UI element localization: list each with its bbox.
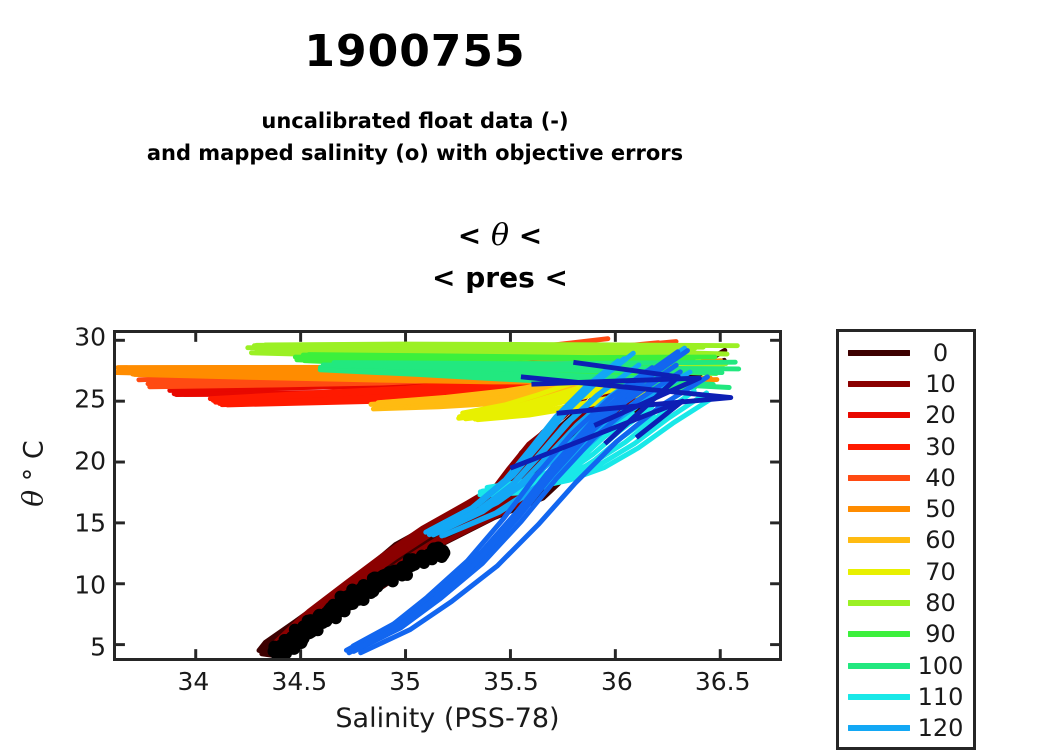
pressure-legend[interactable]: 0102030405060708090100110120130 — [836, 329, 976, 750]
legend-item-label: 70 — [910, 560, 973, 584]
x-tick-label: 35.5 — [466, 669, 556, 694]
y-tick-label: 5 — [42, 635, 106, 660]
legend-item[interactable]: 90 — [839, 619, 973, 650]
title-block: 1900755 uncalibrated float data (-) and … — [0, 0, 830, 170]
series-layer — [116, 339, 738, 655]
legend-color-swatch — [848, 694, 910, 700]
legend-color-swatch — [848, 725, 910, 731]
profile-line — [257, 345, 704, 347]
legend-item[interactable]: 70 — [839, 556, 973, 587]
legend-item-label: 120 — [910, 716, 973, 740]
subtitle-line-1: uncalibrated float data (-) — [0, 106, 830, 138]
legend-color-swatch — [848, 569, 910, 575]
legend-color-swatch — [848, 381, 910, 387]
legend-color-swatch — [848, 663, 910, 669]
legend-item[interactable]: 60 — [839, 525, 973, 556]
theta-symbol-axis: θ — [17, 490, 50, 507]
legend-item-label: 60 — [910, 528, 973, 552]
legend-color-swatch — [848, 506, 910, 512]
legend-item[interactable]: 40 — [839, 462, 973, 493]
legend-color-swatch — [848, 631, 910, 637]
mapped-salinity-marker — [430, 550, 442, 562]
range-annotation-block: < θ < < pres < — [0, 215, 1000, 297]
theta-range-line: < θ < — [0, 215, 1000, 258]
legend-color-swatch — [848, 444, 910, 450]
y-tick-label: 30 — [42, 325, 106, 350]
x-tick-label: 34 — [148, 669, 238, 694]
x-tick-label: 36 — [572, 669, 662, 694]
legend-item-label: 0 — [910, 341, 973, 365]
legend-item[interactable]: 100 — [839, 650, 973, 681]
mapped-salinity-marker — [390, 567, 402, 579]
plot-canvas — [116, 333, 779, 658]
degree-c-text: ° C — [19, 440, 50, 481]
legend-item[interactable]: 30 — [839, 431, 973, 462]
theta-range-prefix: < — [458, 219, 481, 252]
subtitle-line-2: and mapped salinity (o) with objective e… — [0, 138, 830, 170]
legend-item-label: 40 — [910, 466, 973, 490]
legend-item[interactable]: 20 — [839, 400, 973, 431]
legend-color-swatch — [848, 537, 910, 543]
legend-color-swatch — [848, 412, 910, 418]
pres-range-line: < pres < — [0, 258, 1000, 298]
legend-item[interactable]: 120 — [839, 713, 973, 744]
page-title: 1900755 — [0, 30, 830, 74]
legend-item[interactable]: 110 — [839, 681, 973, 712]
legend-item[interactable]: 130 — [839, 744, 973, 750]
y-tick-label: 15 — [42, 511, 106, 536]
x-tick-label: 34.5 — [254, 669, 344, 694]
x-tick-label: 36.5 — [678, 669, 768, 694]
y-tick-label: 10 — [42, 573, 106, 598]
legend-item[interactable]: 80 — [839, 587, 973, 618]
legend-color-swatch — [848, 475, 910, 481]
y-tick-label: 20 — [42, 449, 106, 474]
legend-item[interactable]: 0 — [839, 337, 973, 368]
legend-item-label: 50 — [910, 497, 973, 521]
y-axis-label: θ ° C — [17, 394, 50, 554]
x-tick-label: 35 — [360, 669, 450, 694]
x-axis-label: Salinity (PSS-78) — [113, 703, 782, 734]
legend-item-label: 20 — [910, 403, 973, 427]
y-tick-label: 25 — [42, 387, 106, 412]
theta-salinity-plot — [113, 330, 782, 661]
x-axis-ticks: 3434.53535.53636.5 — [113, 661, 782, 701]
legend-item[interactable]: 50 — [839, 493, 973, 524]
legend-item-label: 10 — [910, 372, 973, 396]
legend-item-label: 110 — [910, 685, 973, 709]
theta-range-suffix: < — [519, 219, 542, 252]
legend-color-swatch — [848, 350, 910, 356]
legend-item-label: 80 — [910, 591, 973, 615]
legend-item-label: 30 — [910, 435, 973, 459]
theta-symbol: θ — [491, 218, 509, 253]
mapped-salinity-marker — [405, 559, 417, 571]
legend-item-label: 100 — [910, 654, 973, 678]
legend-item-label: 90 — [910, 622, 973, 646]
legend-color-swatch — [848, 600, 910, 606]
legend-item[interactable]: 10 — [839, 368, 973, 399]
mapped-salinity-marker — [335, 591, 347, 603]
